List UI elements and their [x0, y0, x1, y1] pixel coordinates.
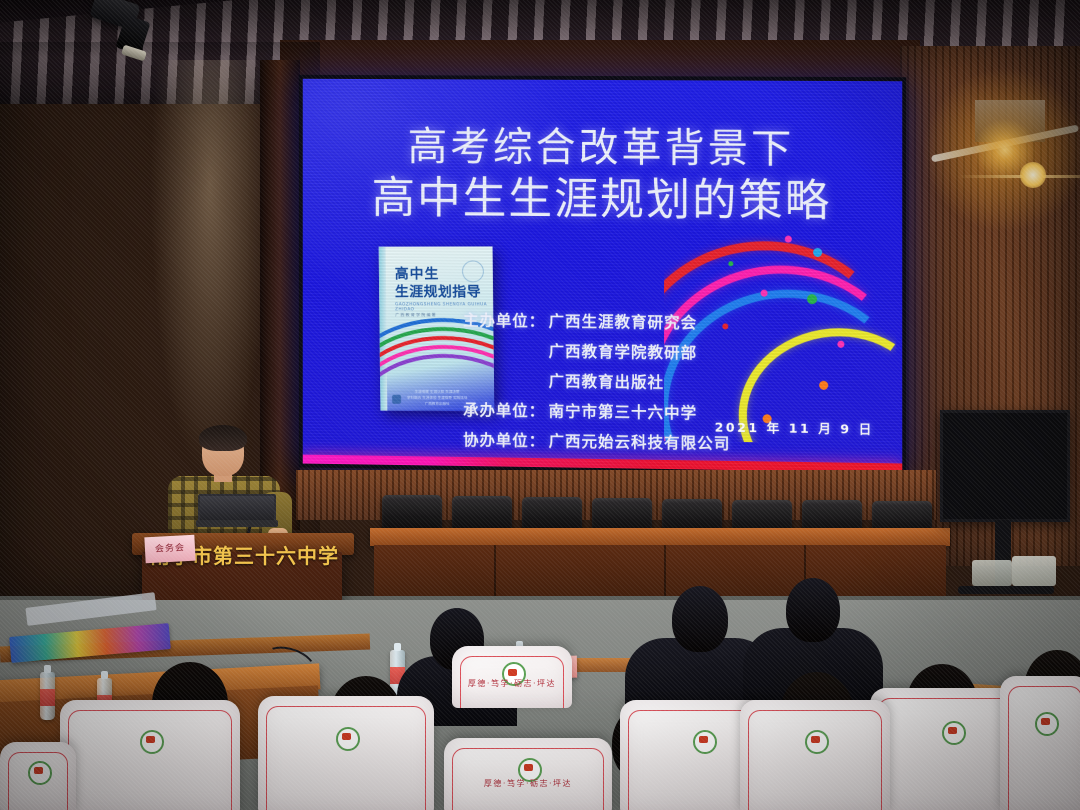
- organizer-label: 协办单位：: [463, 426, 548, 457]
- organizer-row: 协办单位：广西元始云科技有限公司: [463, 426, 730, 460]
- chair-cover-trim: [68, 710, 232, 810]
- wall-lamp-ray: [958, 175, 1080, 178]
- slide-title-line2: 高中生生涯规划的策略: [303, 171, 903, 229]
- rainbow-dot: [837, 341, 844, 348]
- organizer-value: 广西教育学院教研部: [549, 342, 698, 362]
- emblem-mark: [34, 767, 43, 774]
- emblem-mark: [948, 727, 957, 734]
- chair-cover: 厚德·笃学·砺志·坪达: [444, 738, 612, 810]
- organizer-row: 广西教育出版社: [463, 366, 730, 399]
- slide-title-line1: 高考综合改革背景下: [408, 124, 795, 172]
- school-emblem-icon: [805, 730, 829, 754]
- school-emblem-icon: [336, 727, 360, 751]
- organizer-row: 广西教育学院教研部: [463, 336, 730, 369]
- wall-lamp-glow: [920, 65, 1080, 235]
- chair-cover-motto: 厚德·笃学·砺志·坪达: [444, 778, 612, 789]
- chair-cover: [740, 700, 890, 810]
- chair-cover-motto: 厚德·笃学·砺志·坪达: [452, 678, 572, 689]
- led-screen: 高考综合改革背景下 高中生生涯规划的策略 高中生 生涯规划指导 GAOZHONG…: [299, 75, 907, 477]
- emblem-mark: [699, 736, 708, 743]
- organizer-value: 广西元始云科技有限公司: [549, 432, 731, 453]
- rainbow-dot: [761, 290, 768, 297]
- emblem-mark: [342, 733, 351, 740]
- emblem-mark: [1041, 718, 1050, 725]
- storage-crate: [1012, 556, 1056, 586]
- school-emblem-icon: [1035, 712, 1059, 736]
- slide-title: 高考综合改革背景下 高中生生涯规划的策略: [303, 122, 903, 229]
- book-seal-icon: [462, 260, 484, 282]
- audience-head: [672, 586, 728, 652]
- rainbow-dot: [819, 381, 828, 390]
- bottle-label: [40, 689, 55, 706]
- speaker-hair: [199, 425, 247, 451]
- chair-cover: [0, 742, 76, 810]
- organizer-list: 主办单位：广西生涯教育研究会 广西教育学院教研部 广西教育出版社 承办单位：南宁…: [463, 307, 730, 460]
- organizer-value: 广西教育出版社: [549, 372, 664, 391]
- chair-cover: [1000, 676, 1080, 810]
- wall-seam: [260, 60, 300, 530]
- organizer-row: 主办单位：广西生涯教育研究会: [463, 307, 730, 340]
- chair-cover-trim: [1008, 686, 1080, 810]
- chair-cover: [60, 700, 240, 810]
- organizer-label: 主办单位：: [463, 307, 548, 338]
- laptop-icon: [198, 494, 276, 522]
- organizer-value: 广西生涯教育研究会: [549, 312, 698, 332]
- organizer-label: 承办单位：: [463, 396, 548, 427]
- school-emblem-icon: [942, 721, 966, 745]
- school-emblem-icon: [140, 730, 164, 754]
- chair-cover-trim: [266, 706, 426, 810]
- emblem-mark: [508, 669, 517, 676]
- book-title-line2: 生涯规划指导: [395, 281, 481, 301]
- emblem-mark: [811, 736, 820, 743]
- slide-surface: 高考综合改革背景下 高中生生涯规划的策略 高中生 生涯规划指导 GAOZHONG…: [303, 79, 903, 473]
- school-emblem-icon: [693, 730, 717, 754]
- monitor-icon: [940, 410, 1070, 522]
- school-emblem-icon: [28, 761, 52, 785]
- audience-head: [786, 578, 840, 642]
- storage-crate: [972, 560, 1012, 586]
- laptop-base: [196, 520, 278, 527]
- left-wall-light-glow: [150, 60, 270, 480]
- monitor-base: [958, 586, 1054, 594]
- organizer-row: 承办单位：南宁市第三十六中学: [463, 396, 730, 430]
- podium-paper-card: 会务会: [144, 535, 195, 564]
- rainbow-dot: [807, 294, 817, 304]
- chair-cover: 厚德·笃学·砺志·坪达: [452, 646, 572, 708]
- publisher-logo-icon: [392, 395, 401, 404]
- auditorium-photo: 高考综合改革背景下 高中生生涯规划的策略 高中生 生涯规划指导 GAOZHONG…: [0, 0, 1080, 810]
- slide-date: 2021 年 11 月 9 日: [715, 417, 874, 438]
- chair-cover-trim: [748, 710, 882, 810]
- organizer-value: 南宁市第三十六中学: [549, 402, 698, 422]
- rainbow-dot: [813, 248, 822, 257]
- water-bottle-icon: [40, 672, 55, 720]
- head-table: [370, 528, 950, 546]
- wall-lamp-core: [1020, 162, 1046, 188]
- rainbow-dot: [785, 236, 792, 243]
- emblem-mark: [524, 764, 533, 771]
- emblem-mark: [146, 736, 155, 743]
- rainbow-dot: [728, 261, 733, 266]
- chair-cover: [258, 696, 434, 810]
